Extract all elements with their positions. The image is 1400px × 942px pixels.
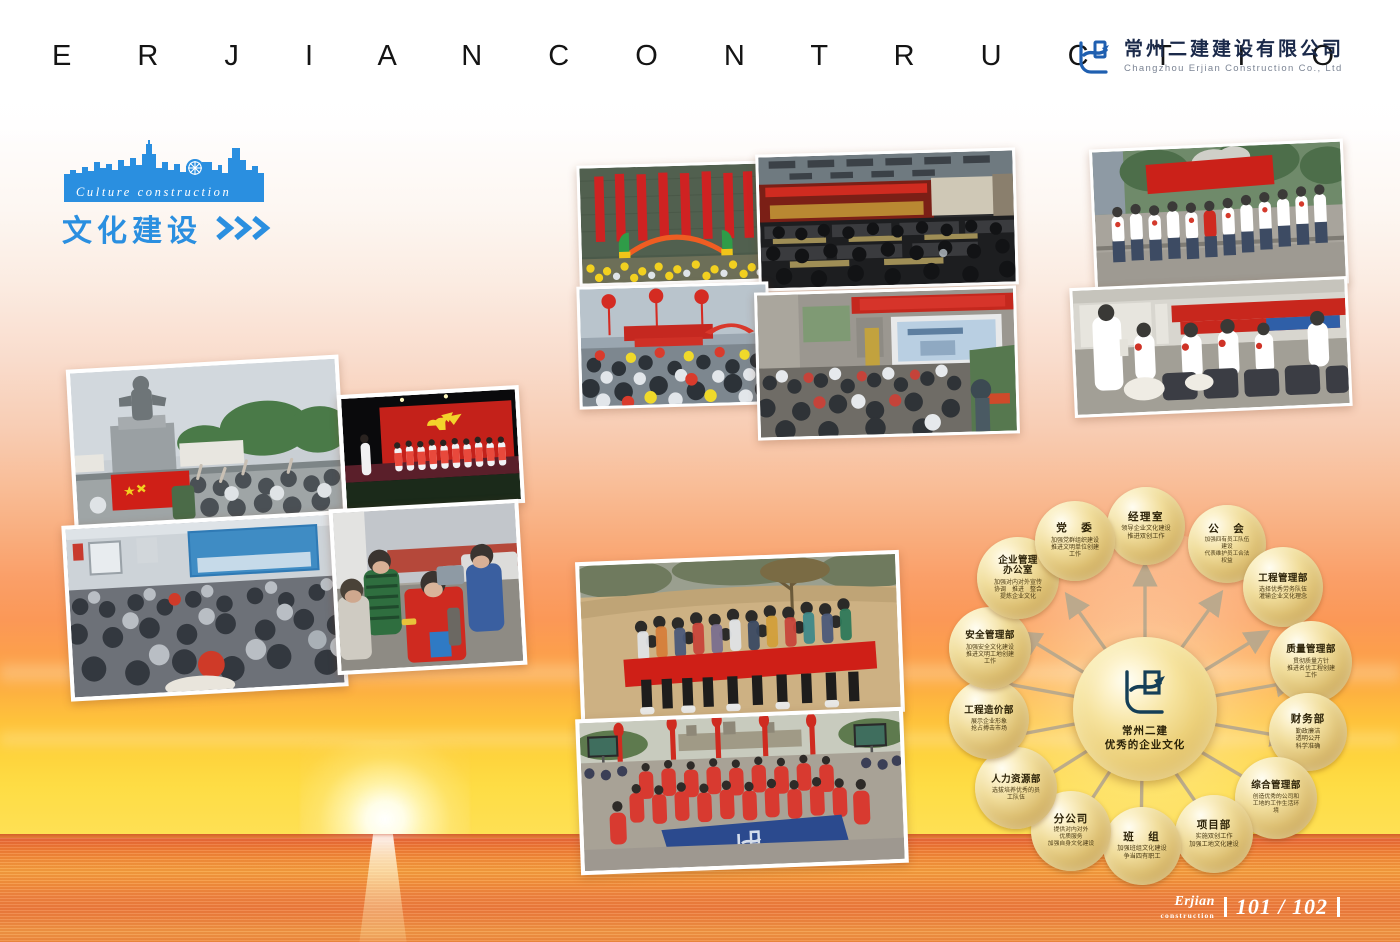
node-desc: 展示企业形象 抢占搏击市场 xyxy=(971,718,1007,732)
section-heading: Culture construction 文化建设 xyxy=(62,140,278,250)
node-title: 党 委 xyxy=(1056,523,1094,535)
photo-sichuan-earthquake-relief-team xyxy=(1089,139,1349,295)
node-desc: 加强安全文化建设 推进文明工地创建 工作 xyxy=(966,644,1014,666)
node-title: 质量管理部 xyxy=(1286,645,1336,656)
node-title: 工程造价部 xyxy=(964,706,1014,717)
node-title: 工程管理部 xyxy=(1258,574,1308,585)
footer-divider-right xyxy=(1337,897,1340,917)
company-logo: 常州二建建设有限公司 Changzhou Erjian Construction… xyxy=(1075,36,1344,76)
brochure-page: E R J I A N C O N T R U C T I O N 常州二建建设… xyxy=(0,0,1400,942)
center-title-line2: 优秀的企业文化 xyxy=(1105,738,1186,752)
node-title: 班 组 xyxy=(1123,832,1161,844)
node-desc: 勤政廉洁 透明公开 科学准确 xyxy=(1296,728,1321,750)
wheel-node-gongcheng-zaojia: 工程造价部 展示企业形象 抢占搏击市场 xyxy=(949,679,1029,759)
node-desc: 加强四有员工队伍 建设 代表维护员工合法 权益 xyxy=(1205,537,1250,564)
node-title: 经理室 xyxy=(1128,512,1164,524)
enterprise-culture-org-wheel: 常州二建 优秀的企业文化 经理室 领导企业文化建设 推进双创工作 公 会 加强四… xyxy=(925,485,1365,885)
city-skyline-icon: Culture construction xyxy=(62,140,266,202)
wheel-node-xiangmu: 项目部 实施双创工作 加强工地文化建设 xyxy=(1175,795,1253,873)
wheel-node-dangwei: 党 委 加强党群组织建设 推进文明单位创建 工作 xyxy=(1035,501,1115,581)
node-title: 综合管理部 xyxy=(1251,781,1301,792)
page-number: 101 / 102 xyxy=(1236,894,1328,920)
node-desc: 选拔培养优秀的员 工队伍 xyxy=(992,787,1040,801)
wheel-node-gongcheng-guanli: 工程管理部 选择优秀劳务队伍 灌输企业文化理念 xyxy=(1243,547,1323,627)
wheel-node-renli-ziyuan: 人力资源部 选拔培养优秀的员 工队伍 xyxy=(975,747,1057,829)
photo-staff-sports-meeting-blue-flag xyxy=(575,707,909,875)
photo-outdoor-rally-balloons xyxy=(576,281,771,409)
node-desc: 加强党群组织建设 推进文明单位创建 工作 xyxy=(1051,537,1099,559)
node-desc: 贯彻质量方针 推进名优工程创建 工作 xyxy=(1287,658,1335,680)
node-desc: 实施双创工作 加强工地文化建设 xyxy=(1189,833,1239,848)
erjian-logo-icon xyxy=(1075,36,1115,76)
node-title: 企业管理 办公室 xyxy=(998,556,1038,577)
chevron-right-icons xyxy=(216,215,278,241)
photo-relief-supplies-donation xyxy=(1069,276,1352,418)
node-desc: 加强班组文化建设 争当四有职工 xyxy=(1117,845,1167,860)
node-title: 财务部 xyxy=(1291,714,1326,726)
center-title-line1: 常州二建 xyxy=(1122,724,1168,738)
photo-free-haircut-service xyxy=(329,499,528,675)
section-label-en: Culture construction xyxy=(76,185,231,199)
page-footer: Erjian construction 101 / 102 xyxy=(1160,894,1340,920)
photo-female-staff-outdoor-training-camp xyxy=(575,550,905,724)
footer-brand-line1: Erjian xyxy=(1160,895,1214,909)
photo-site-kickoff-arch-banners xyxy=(576,160,771,286)
wheel-node-banzu: 班 组 加强班组文化建设 争当四有职工 xyxy=(1103,807,1181,885)
wheel-node-zhiliang-guanli: 质量管理部 贯彻质量方针 推进名优工程创建 工作 xyxy=(1270,621,1352,703)
photo-safety-warning-education xyxy=(754,285,1020,440)
wheel-node-jingli-shi: 经理室 领导企业文化建设 推进双创工作 xyxy=(1107,487,1185,565)
footer-brand-line2: construction xyxy=(1160,911,1214,920)
node-title: 项目部 xyxy=(1197,820,1232,832)
node-title: 分公司 xyxy=(1054,814,1089,826)
photo-mao-statue-party-flag-oath xyxy=(66,355,348,530)
node-desc: 领导企业文化建设 推进双创工作 xyxy=(1121,525,1171,540)
photo-large-conference-hall xyxy=(755,147,1019,291)
wheel-center-node: 常州二建 优秀的企业文化 xyxy=(1073,637,1217,781)
node-title: 公 会 xyxy=(1208,524,1246,536)
wheel-node-anquan-guanli: 安全管理部 加强安全文化建设 推进文明工地创建 工作 xyxy=(949,607,1031,689)
node-title: 人力资源部 xyxy=(991,775,1041,786)
photo-moral-lecture-hall-meeting xyxy=(61,510,348,701)
node-desc: 加强对内对外宣传 协调 推进 整合 提炼企业文化 xyxy=(994,579,1042,601)
erjian-logo-icon xyxy=(1118,666,1172,722)
company-name-en: Changzhou Erjian Construction Co., Ltd xyxy=(1124,63,1344,74)
section-label-cn: 文化建设 xyxy=(62,206,202,250)
company-name-cn: 常州二建建设有限公司 xyxy=(1124,38,1344,62)
photo-choir-red-stage xyxy=(337,385,525,513)
node-title: 安全管理部 xyxy=(965,631,1015,642)
node-desc: 选择优秀劳务队伍 灌输企业文化理念 xyxy=(1259,586,1307,600)
node-desc: 提供对内对外 优质服务 加强自身文化建设 xyxy=(1048,827,1094,848)
footer-divider-left xyxy=(1224,897,1227,917)
node-desc: 创造优秀的公司和 工地的工作生活环 境 xyxy=(1253,794,1299,815)
